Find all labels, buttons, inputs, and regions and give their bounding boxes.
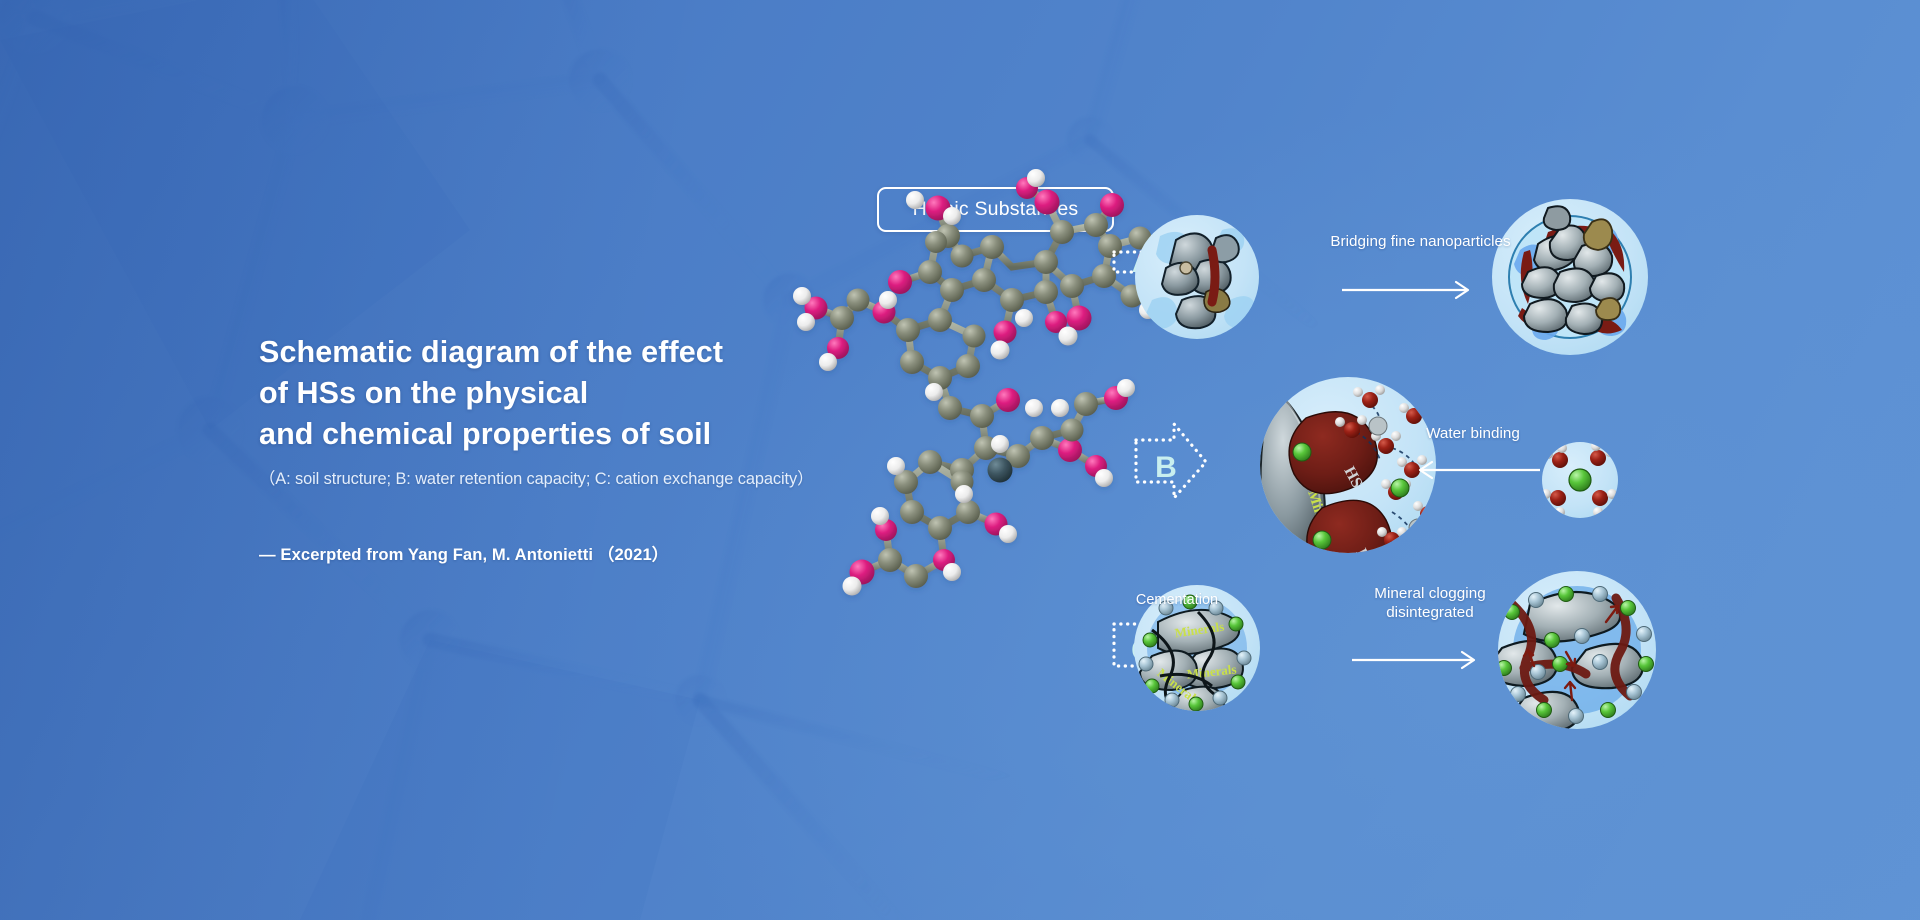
arrow-line-b	[1420, 462, 1540, 478]
hydrogen-atoms	[793, 169, 1168, 596]
arrow-line-a	[1342, 282, 1468, 298]
cementation-label: Cementation	[1107, 591, 1247, 610]
arrow-block-b: B	[1136, 424, 1206, 498]
heteroatom	[988, 458, 1013, 483]
arrow-label-a: Bridging fine nanoparticles	[1329, 232, 1512, 251]
diagram-canvas: A	[0, 0, 1920, 920]
banner-root: Schematic diagram of the effect of HSs o…	[0, 0, 1920, 920]
arrow-line-c	[1352, 652, 1474, 668]
humic-substance-molecule	[793, 169, 1168, 596]
arrow-label-b: Water binding	[1393, 424, 1553, 443]
row-a: A	[1114, 199, 1648, 355]
arrow-letter-b: B	[1155, 451, 1177, 484]
arrow-label-c: Mineral clogging disintegrated	[1330, 584, 1530, 622]
row-b: B Minerals HS HS	[1136, 377, 1618, 579]
